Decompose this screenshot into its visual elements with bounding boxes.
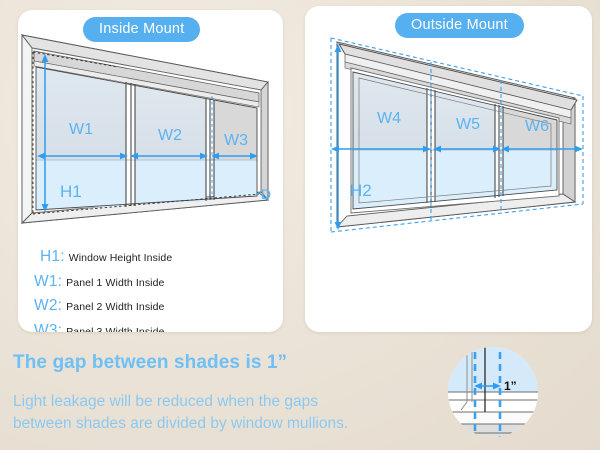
gap-note-heading: The gap between shades is 1” (13, 352, 287, 374)
inside-mount-badge: Inside Mount (83, 17, 200, 42)
legend-key: W2: (34, 297, 62, 315)
panel-label-w1: W1 (69, 121, 93, 138)
legend-value: Panel 1 Width Inside (66, 277, 164, 289)
legend-row: W2: Panel 2 Width Inside (34, 297, 172, 315)
inside-mount-legend: H1: Window Height Inside W1: Panel 1 Wid… (34, 248, 172, 332)
legend-row: W3: Panel 3 Width Inside (34, 322, 172, 333)
gap-detail-inset: 1” (437, 340, 549, 446)
gap-note-line-2: between shades are divided by window mul… (13, 413, 433, 435)
height-label-h2: H2 (350, 181, 372, 200)
depth-label-d: D (261, 186, 271, 202)
legend-key: W1: (34, 273, 62, 291)
legend-value: Panel 2 Width Inside (66, 301, 164, 313)
panel-label-w6: W6 (525, 118, 549, 135)
panel-label-w4: W4 (377, 110, 401, 127)
legend-value: Panel 3 Width Inside (66, 326, 164, 333)
gap-note-line-1: Light leakage will be reduced when the g… (13, 391, 433, 413)
inside-mount-card: W1 W2 W3 H1 D H1: Window Height Inside W… (18, 10, 283, 332)
panel-label-w3: W3 (224, 132, 248, 149)
inside-mount-diagram: W1 W2 W3 H1 D (18, 10, 283, 242)
gap-detail-label: 1” (504, 379, 517, 393)
legend-row: W1: Panel 1 Width Inside (34, 273, 172, 291)
legend-value: Window Height Inside (69, 252, 173, 264)
outside-mount-badge: Outside Mount (395, 13, 524, 38)
outside-mount-diagram: W4 W5 W6 H2 (305, 6, 592, 242)
height-label-h1: H1 (60, 182, 82, 201)
panel-label-w5: W5 (456, 116, 480, 133)
legend-row: H1: Window Height Inside (34, 248, 172, 266)
legend-key: W3: (34, 322, 62, 333)
legend-key: H1: (40, 248, 65, 266)
outside-mount-card: W4 W5 W6 H2 H2: Window Height Inside + D… (305, 6, 592, 332)
panel-label-w2: W2 (158, 127, 182, 144)
gap-note-body: Light leakage will be reduced when the g… (13, 391, 433, 435)
